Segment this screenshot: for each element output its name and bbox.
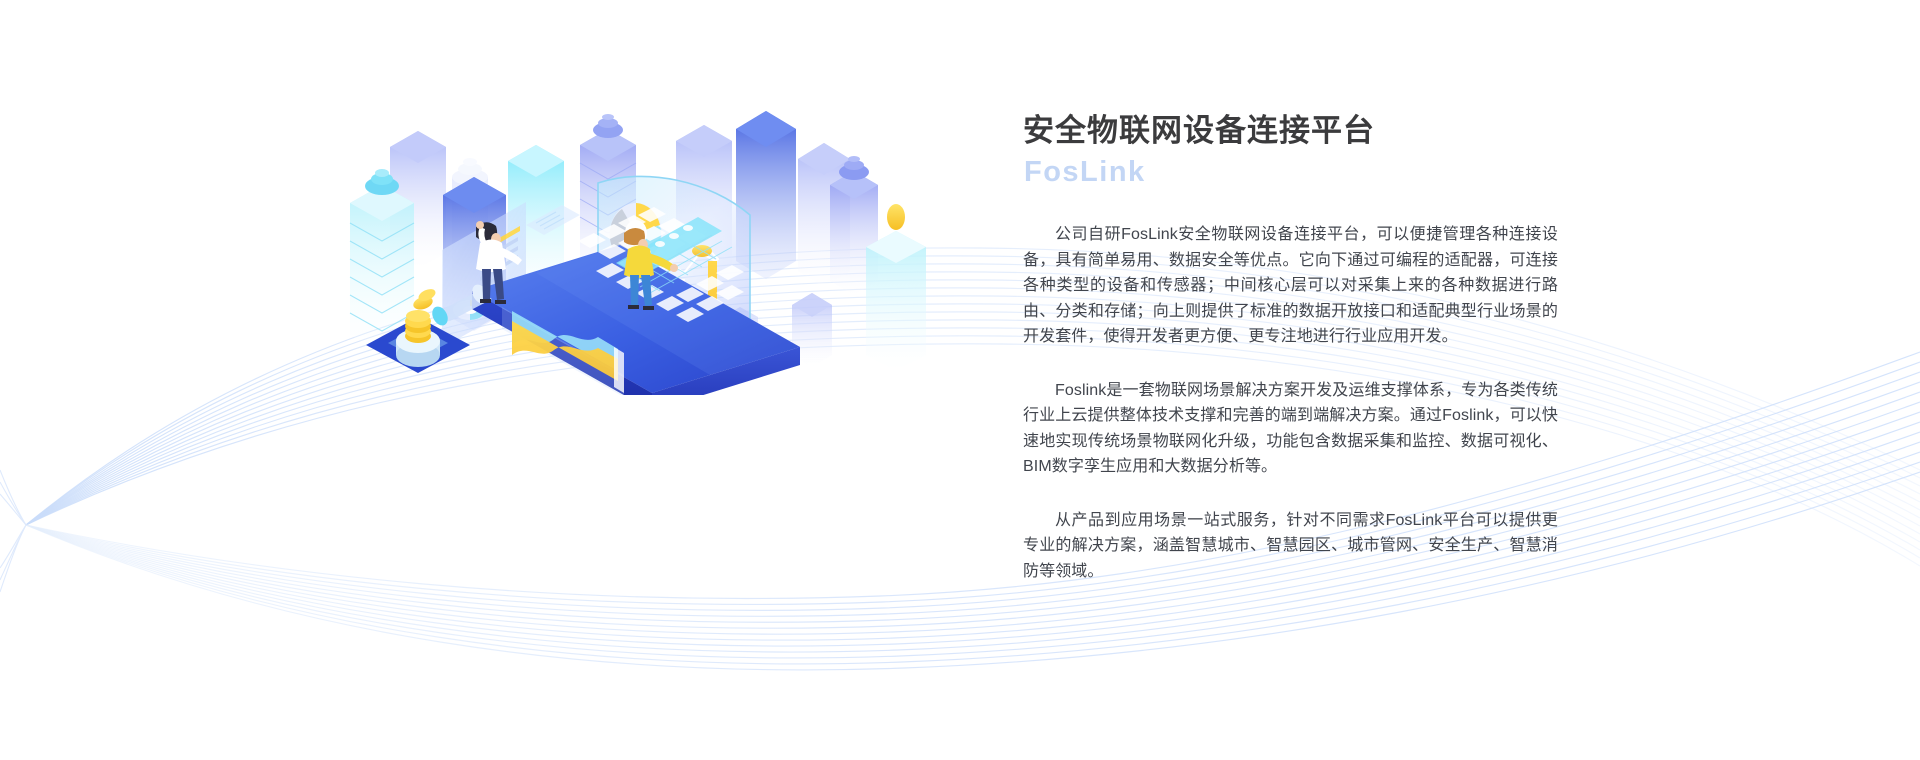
background-wave-lines: [0, 0, 1920, 760]
wave-group-upper: [26, 248, 1920, 566]
floating-coin: [887, 204, 905, 230]
wave-group-lower: [26, 352, 1920, 670]
hero-section: 安全物联网设备连接平台 FosLink 公司自研FosLink安全物联网设备连接…: [0, 0, 1920, 760]
page-title: 安全物联网设备连接平台: [1023, 110, 1558, 152]
page-subtitle: FosLink: [1024, 152, 1558, 192]
paragraph-3: 从产品到应用场景一站式服务，针对不同需求FosLink平台可以提供更专业的解决方…: [1023, 508, 1558, 585]
body-copy: 公司自研FosLink安全物联网设备连接平台，可以便捷管理各种连接设备，具有简单…: [1023, 222, 1558, 584]
hero-text-column: 安全物联网设备连接平台 FosLink 公司自研FosLink安全物联网设备连接…: [1023, 110, 1558, 584]
coin-stack: [405, 310, 431, 343]
illustration-isometric-smart-city: [330, 55, 950, 395]
paragraph-2: Foslink是一套物联网场景解决方案开发及运维支撑体系，专为各类传统行业上云提…: [1023, 378, 1558, 480]
paragraph-1: 公司自研FosLink安全物联网设备连接平台，可以便捷管理各种连接设备，具有简单…: [1023, 222, 1558, 350]
wave-pinch-wedge: [0, 470, 26, 592]
